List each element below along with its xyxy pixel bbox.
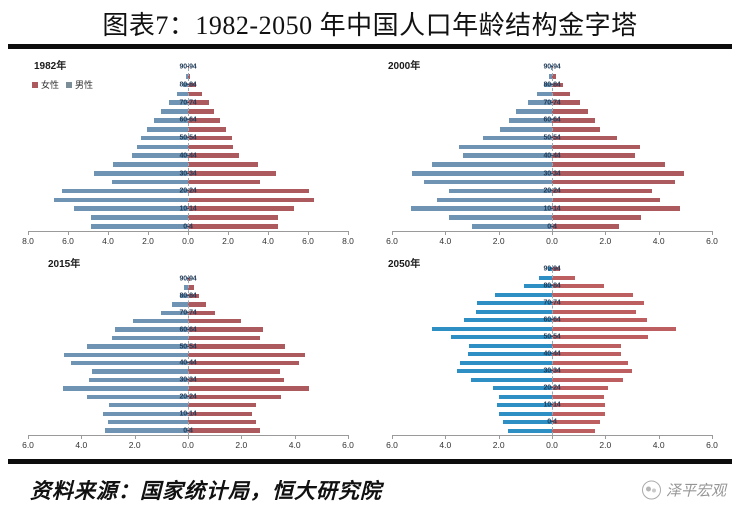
- bar-male: [468, 352, 552, 356]
- bar-female: [188, 336, 260, 340]
- bar-female: [188, 206, 294, 211]
- axis-tick-label: 6.0: [706, 440, 718, 450]
- age-group-label: 60-64: [544, 317, 561, 324]
- bar-male: [459, 145, 552, 150]
- pyramid-half-female: [552, 325, 712, 334]
- axis-tick-label: 8.0: [342, 236, 354, 246]
- pyramid-half-female: [188, 300, 348, 308]
- pyramid-half-male: [392, 160, 552, 169]
- axis-tick: [28, 231, 29, 235]
- pyramid-half-female: [188, 142, 348, 151]
- axis-tick-label: 2.0: [599, 236, 611, 246]
- bar-female: [552, 412, 605, 416]
- bar-female: [188, 180, 260, 185]
- bar-male: [495, 293, 552, 297]
- pyramid-half-female: [188, 169, 348, 178]
- pyramid-half-female: [552, 213, 712, 222]
- pyramid-half-male: [392, 204, 552, 213]
- pyramid-half-male: [392, 418, 552, 427]
- pyramid-half-male: [392, 350, 552, 359]
- pyramid-half-male: [392, 410, 552, 419]
- pyramid-half-male: [28, 160, 188, 169]
- bar-female: [188, 361, 299, 365]
- pyramid-half-male: [392, 169, 552, 178]
- pyramid-half-male: [28, 410, 188, 418]
- pyramid-half-male: [28, 187, 188, 196]
- bar-female: [552, 215, 641, 220]
- bar-male: [432, 162, 552, 167]
- chart-label-2015: 2015年: [48, 255, 80, 270]
- bar-female: [188, 386, 309, 390]
- age-group-label: 70-74: [180, 309, 197, 316]
- bar-female: [188, 369, 280, 373]
- axis-tick: [605, 231, 606, 235]
- pyramid-half-female: [552, 195, 712, 204]
- age-group-label: 30-34: [544, 170, 561, 177]
- pyramid-half-male: [392, 282, 552, 291]
- bar-male: [105, 428, 188, 432]
- axis-tick: [499, 231, 500, 235]
- pyramid-half-male: [392, 274, 552, 283]
- pyramid-half-female: [552, 393, 712, 402]
- age-group-label: 40-44: [180, 152, 197, 159]
- axis-tick-label: 0.0: [182, 236, 194, 246]
- pyramid-half-female: [552, 308, 712, 317]
- legend-label-female: 女性: [41, 78, 59, 91]
- pyramid-half-female: [552, 187, 712, 196]
- pyramid-half-female: [188, 178, 348, 187]
- bar-male: [92, 369, 188, 373]
- pyramid-half-female: [188, 116, 348, 125]
- chart-legend: 女性 男性: [32, 78, 93, 91]
- bar-female: [188, 109, 214, 114]
- pyramid-half-female: [188, 283, 348, 291]
- charts-row-top: 1982年 女性 男性 90-9480-8470-7460-6450-5440-…: [6, 53, 734, 253]
- bar-male: [516, 109, 552, 114]
- pyramid-half-female: [188, 401, 348, 409]
- pyramid-half-female: [552, 282, 712, 291]
- source-text: 资料来源：国家统计局，恒大研究院: [30, 475, 382, 505]
- pyramid-half-female: [188, 187, 348, 196]
- pyramid-half-male: [392, 427, 552, 436]
- pyramid-half-male: [28, 213, 188, 222]
- pyramid-half-male: [28, 292, 188, 300]
- pyramid-half-female: [552, 63, 712, 72]
- pyramid-half-female: [552, 204, 712, 213]
- pyramid-half-male: [28, 309, 188, 317]
- bar-female: [552, 92, 570, 97]
- pyramid-half-male: [392, 72, 552, 81]
- age-group-label: 80-84: [544, 283, 561, 290]
- bar-male: [87, 344, 188, 348]
- bar-female: [188, 145, 233, 150]
- bar-female: [552, 276, 575, 280]
- axis-tick-label: 6.0: [386, 236, 398, 246]
- pyramid-plot-2015: 90-9480-8470-7460-6450-5440-4430-3420-24…: [28, 275, 348, 435]
- pyramid-half-female: [552, 410, 712, 419]
- bar-male: [74, 206, 188, 211]
- pyramid-half-female: [188, 325, 348, 333]
- bar-male: [412, 171, 552, 176]
- pyramid-half-male: [392, 401, 552, 410]
- axis-tick-label: 6.0: [62, 236, 74, 246]
- bar-female: [552, 361, 628, 365]
- pyramid-half-female: [188, 204, 348, 213]
- axis-tick: [188, 231, 189, 235]
- bar-male: [437, 198, 552, 203]
- bar-female: [188, 189, 309, 194]
- bar-female: [188, 198, 314, 203]
- axis-tick: [392, 435, 393, 439]
- axis-tick: [268, 231, 269, 235]
- pyramid-half-female: [552, 333, 712, 342]
- bar-female: [188, 319, 241, 323]
- bar-male: [91, 224, 188, 229]
- chart-panel-2050: 2050年 90-9480-8470-7460-6450-5440-4430-3…: [370, 253, 734, 453]
- axis-tick: [108, 231, 109, 235]
- x-axis-2000: 6.04.02.00.02.04.06.0: [392, 231, 712, 249]
- axis-tick-label: 2.0: [142, 236, 154, 246]
- pyramid-half-female: [552, 427, 712, 436]
- pyramid-half-male: [392, 316, 552, 325]
- chart-label-2050: 2050年: [388, 255, 420, 270]
- age-group-label: 30-34: [180, 377, 197, 384]
- pyramid-half-male: [28, 351, 188, 359]
- axis-tick-label: 2.0: [599, 440, 611, 450]
- pyramid-half-male: [392, 333, 552, 342]
- pyramid-half-male: [28, 300, 188, 308]
- pyramid-rows: 90-9480-8470-7460-6450-5440-4430-3420-24…: [392, 265, 712, 435]
- pyramid-half-female: [552, 265, 712, 274]
- bar-female: [552, 189, 652, 194]
- pyramid-half-male: [28, 107, 188, 116]
- pyramid-half-female: [188, 342, 348, 350]
- bar-female: [188, 327, 263, 331]
- pyramid-half-male: [392, 134, 552, 143]
- age-group-label: 40-44: [544, 351, 561, 358]
- bar-male: [63, 386, 188, 390]
- age-group-label: 10-14: [180, 205, 197, 212]
- pyramid-half-female: [552, 384, 712, 393]
- pyramid-half-male: [392, 116, 552, 125]
- chart-label-2000: 2000年: [388, 57, 420, 72]
- pyramid-half-male: [28, 283, 188, 291]
- age-group-label: 40-44: [544, 152, 561, 159]
- bar-male: [500, 127, 552, 132]
- age-group-label: 10-14: [544, 205, 561, 212]
- pyramid-half-female: [188, 63, 348, 72]
- pyramid-half-male: [28, 178, 188, 187]
- pyramid-half-male: [392, 359, 552, 368]
- legend-item-female: 女性: [32, 78, 59, 91]
- age-group-label: 90-94: [544, 266, 561, 273]
- pyramid-rows: 90-9480-8470-7460-6450-5440-4430-3420-24…: [392, 63, 712, 231]
- bar-female: [188, 92, 202, 97]
- bar-female: [188, 224, 278, 229]
- pyramid-half-male: [392, 195, 552, 204]
- axis-tick: [659, 435, 660, 439]
- pyramid-half-male: [392, 213, 552, 222]
- pyramid-half-female: [188, 351, 348, 359]
- pyramid-half-male: [28, 359, 188, 367]
- axis-tick: [295, 435, 296, 439]
- pyramid-half-male: [392, 367, 552, 376]
- bar-female: [552, 198, 660, 203]
- pyramid-half-female: [188, 384, 348, 392]
- pyramid-plot-2050: 90-9480-8470-7460-6450-5440-4430-3420-24…: [392, 265, 712, 435]
- axis-tick-label: 6.0: [22, 440, 34, 450]
- bar-female: [552, 335, 648, 339]
- pyramid-half-male: [392, 89, 552, 98]
- pyramid-half-male: [28, 195, 188, 204]
- bar-female: [552, 378, 623, 382]
- pyramid-half-female: [188, 134, 348, 143]
- axis-tick: [348, 231, 349, 235]
- bar-male: [71, 361, 188, 365]
- axis-tick-label: 8.0: [22, 236, 34, 246]
- axis-tick-label: 4.0: [439, 236, 451, 246]
- bar-male: [115, 327, 188, 331]
- age-group-label: 60-64: [180, 326, 197, 333]
- axis-tick-label: 4.0: [653, 440, 665, 450]
- bar-female: [552, 352, 621, 356]
- chart-panel-1982: 1982年 女性 男性 90-9480-8470-7460-6450-5440-…: [6, 53, 370, 253]
- x-axis-2015: 6.04.02.00.02.04.06.0: [28, 435, 348, 453]
- chart-panel-2000: 2000年 90-9480-8470-7460-6450-5440-4430-3…: [370, 53, 734, 253]
- legend-swatch-male: [66, 82, 72, 88]
- chart-label-1982: 1982年: [34, 57, 66, 72]
- pyramid-half-female: [188, 292, 348, 300]
- age-group-label: 20-24: [544, 385, 561, 392]
- pyramid-half-female: [188, 359, 348, 367]
- bar-female: [188, 302, 206, 306]
- age-group-label: 50-54: [544, 135, 561, 142]
- pyramid-half-female: [552, 299, 712, 308]
- age-group-label: 60-64: [544, 117, 561, 124]
- age-group-label: 0-4: [547, 223, 557, 230]
- pyramid-half-male: [28, 222, 188, 231]
- bar-male: [108, 420, 188, 424]
- legend-item-male: 男性: [66, 78, 93, 91]
- pyramid-half-male: [28, 142, 188, 151]
- bar-female: [552, 369, 632, 373]
- age-group-label: 0-4: [547, 419, 557, 426]
- axis-tick-label: 4.0: [289, 440, 301, 450]
- pyramid-half-male: [392, 325, 552, 334]
- age-group-label: 70-74: [180, 99, 197, 106]
- pyramid-half-male: [28, 384, 188, 392]
- pyramid-half-female: [188, 410, 348, 418]
- pyramid-half-female: [552, 72, 712, 81]
- pyramid-half-male: [28, 125, 188, 134]
- bar-female: [552, 344, 621, 348]
- pyramid-half-male: [392, 376, 552, 385]
- bar-female: [188, 428, 260, 432]
- pyramid-half-male: [28, 393, 188, 401]
- pyramid-half-male: [392, 299, 552, 308]
- axis-tick: [148, 231, 149, 235]
- pyramid-half-female: [188, 367, 348, 375]
- pyramid-half-male: [28, 367, 188, 375]
- x-axis-1982: 8.06.04.02.00.02.04.06.08.0: [28, 231, 348, 249]
- pyramid-half-female: [552, 274, 712, 283]
- pyramid-half-female: [552, 107, 712, 116]
- pyramid-half-male: [28, 151, 188, 160]
- bar-male: [483, 136, 552, 141]
- bar-female: [552, 224, 619, 229]
- bar-female: [552, 206, 680, 211]
- age-group-label: 20-24: [180, 188, 197, 195]
- pyramid-half-female: [552, 134, 712, 143]
- age-group-label: 40-44: [180, 360, 197, 367]
- pyramid-plot-2000: 90-9480-8470-7460-6450-5440-4430-3420-24…: [392, 63, 712, 231]
- pyramid-half-female: [188, 309, 348, 317]
- age-group-label: 0-4: [183, 223, 193, 230]
- axis-tick: [392, 231, 393, 235]
- bar-male: [133, 319, 188, 323]
- pyramid-half-male: [392, 342, 552, 351]
- pyramid-half-female: [552, 160, 712, 169]
- pyramid-half-male: [392, 81, 552, 90]
- age-group-label: 20-24: [544, 188, 561, 195]
- axis-tick: [228, 231, 229, 235]
- bar-female: [188, 395, 281, 399]
- pyramid-half-female: [552, 401, 712, 410]
- bar-male: [137, 145, 188, 150]
- axis-tick: [552, 435, 553, 439]
- bar-male: [457, 369, 552, 373]
- axis-tick: [445, 231, 446, 235]
- watermark-text: 泽平宏观: [666, 480, 726, 501]
- watermark: 泽平宏观: [642, 480, 726, 501]
- axis-tick-label: 0.0: [546, 440, 558, 450]
- bar-male: [94, 171, 188, 176]
- pyramid-half-female: [552, 116, 712, 125]
- pyramid-half-female: [552, 342, 712, 351]
- age-group-label: 90-94: [180, 64, 197, 71]
- pyramid-half-male: [392, 107, 552, 116]
- axis-tick: [499, 435, 500, 439]
- axis-tick-label: 4.0: [653, 236, 665, 246]
- pyramid-half-female: [552, 376, 712, 385]
- bar-male: [469, 344, 552, 348]
- axis-tick-label: 0.0: [182, 440, 194, 450]
- pyramid-half-female: [552, 316, 712, 325]
- bar-female: [188, 344, 285, 348]
- pyramid-half-female: [188, 317, 348, 325]
- bar-male: [64, 353, 188, 357]
- pyramid-half-male: [28, 317, 188, 325]
- bar-female: [552, 318, 647, 322]
- axis-tick-label: 6.0: [386, 440, 398, 450]
- pyramid-half-male: [28, 204, 188, 213]
- pyramid-half-male: [28, 116, 188, 125]
- axis-tick: [308, 231, 309, 235]
- axis-tick: [712, 231, 713, 235]
- bar-male: [449, 189, 552, 194]
- bar-female: [552, 327, 676, 331]
- bar-male: [112, 336, 188, 340]
- bar-male: [91, 215, 188, 220]
- bar-female: [188, 353, 305, 357]
- pyramid-half-female: [188, 334, 348, 342]
- axis-tick-label: 2.0: [235, 440, 247, 450]
- chart-title-bar: 图表7：1982-2050 年中国人口年龄结构金字塔: [0, 0, 740, 44]
- bar-female: [552, 171, 684, 176]
- bar-male: [411, 206, 552, 211]
- pyramid-half-male: [28, 325, 188, 333]
- pyramid-half-female: [552, 98, 712, 107]
- pyramid-half-female: [188, 195, 348, 204]
- pyramid-half-female: [188, 125, 348, 134]
- bar-female: [552, 136, 617, 141]
- pyramid-half-female: [188, 222, 348, 231]
- pyramid-half-male: [28, 98, 188, 107]
- bar-male: [460, 361, 552, 365]
- bar-female: [552, 153, 635, 158]
- charts-row-bottom: 2015年 90-9480-8470-7460-6450-5440-4430-3…: [6, 253, 734, 453]
- bar-male: [539, 276, 552, 280]
- axis-tick-label: 2.0: [493, 440, 505, 450]
- bar-female: [188, 420, 256, 424]
- bar-female: [552, 293, 633, 297]
- pyramid-half-female: [188, 81, 348, 90]
- pyramid-half-male: [392, 151, 552, 160]
- pyramid-half-female: [552, 291, 712, 300]
- bar-male: [62, 189, 188, 194]
- bar-female: [188, 378, 284, 382]
- pyramid-half-male: [392, 178, 552, 187]
- bar-male: [87, 395, 188, 399]
- age-group-label: 50-54: [544, 334, 561, 341]
- axis-tick: [241, 435, 242, 439]
- axis-tick: [28, 435, 29, 439]
- pyramid-half-male: [28, 134, 188, 143]
- footer: 资料来源：国家统计局，恒大研究院 泽平宏观: [0, 464, 740, 516]
- age-group-label: 90-94: [180, 276, 197, 283]
- pyramid-half-female: [552, 359, 712, 368]
- bar-female: [552, 109, 588, 114]
- bar-male: [499, 395, 552, 399]
- age-group-label: 60-64: [180, 117, 197, 124]
- chart-panel-2015: 2015年 90-9480-8470-7460-6450-5440-4430-3…: [6, 253, 370, 453]
- pyramid-half-female: [188, 89, 348, 98]
- pyramid-half-female: [552, 89, 712, 98]
- bar-male: [103, 412, 188, 416]
- age-group-label: 30-34: [544, 368, 561, 375]
- axis-tick-label: 2.0: [222, 236, 234, 246]
- bar-male: [449, 215, 552, 220]
- pyramid-half-female: [188, 98, 348, 107]
- axis-tick: [135, 435, 136, 439]
- axis-tick-label: 2.0: [493, 236, 505, 246]
- age-group-label: 10-14: [544, 402, 561, 409]
- legend-swatch-female: [32, 82, 38, 88]
- bar-male: [503, 420, 552, 424]
- bar-female: [188, 412, 252, 416]
- pyramid-half-female: [188, 275, 348, 283]
- age-group-label: 10-14: [180, 410, 197, 417]
- bar-female: [552, 310, 636, 314]
- pyramid-half-male: [392, 98, 552, 107]
- pyramid-half-female: [188, 107, 348, 116]
- bar-male: [464, 318, 552, 322]
- axis-tick-label: 0.0: [546, 236, 558, 246]
- bar-male: [161, 109, 188, 114]
- bar-female: [552, 127, 600, 132]
- axis-tick: [81, 435, 82, 439]
- bar-male: [177, 92, 188, 97]
